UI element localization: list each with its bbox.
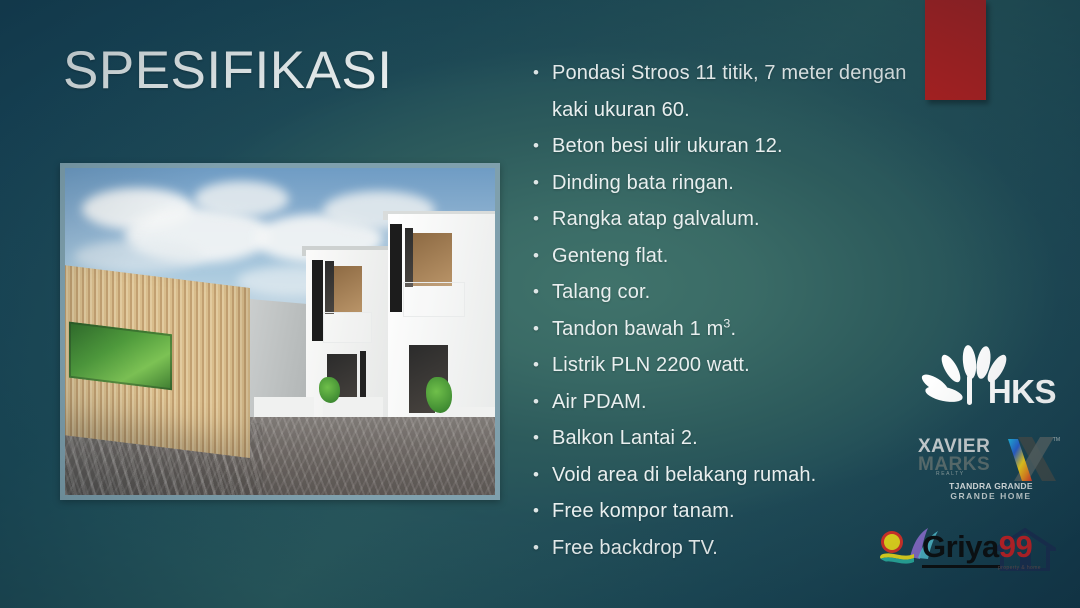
list-item: • Talang cor. [520,274,940,311]
list-item: • Pondasi Stroos 11 titik, 7 meter denga… [520,55,940,128]
page-title: SPESIFIKASI [63,44,393,97]
griya99-text: Griya99 [922,531,1032,562]
balcony-rail [323,312,372,343]
bullet-point-icon: • [520,384,552,421]
list-item-label: Genteng flat. [552,238,940,275]
bullet-point-icon: • [520,530,552,567]
hks-logo: HKS [915,345,1060,417]
bullet-point-icon: • [520,457,552,494]
hks-logo-text: HKS [988,373,1056,411]
bullet-point-icon: • [520,128,552,165]
xavier-subtitle: REALTY [936,471,965,477]
list-item: • Rangka atap galvalum. [520,201,940,238]
list-item: • Air PDAM. [520,384,940,421]
list-item: • Free backdrop TV. [520,530,940,567]
bullet-point-icon: • [520,420,552,457]
list-item-label: Balkon Lantai 2. [552,420,940,457]
cloud-icon [194,181,289,217]
office-name-line1: TJANDRA GRANDE [922,481,1060,491]
office-name-line2: GRANDE HOME [922,491,1060,501]
upper-window-frame [405,228,414,287]
bullet-point-icon: • [520,165,552,202]
house-render-image [65,168,495,495]
list-item-label: Pondasi Stroos 11 titik, 7 meter dengan … [552,55,940,128]
griya99-logo: Griya99 property & home [878,525,1058,580]
list-item-label: Beton besi ulir ukuran 12. [552,128,940,165]
upper-window [413,233,452,285]
list-item-label: Listrik PLN 2200 watt. [552,347,940,384]
xavier-marks-logo: XAVIER MARKS REALTY TM TJANDRA GRANDE GR… [918,437,1060,507]
list-item: • Tandon bawah 1 m3. [520,311,940,348]
list-item: • Void area di belakang rumah. [520,457,940,494]
xavier-x-icon [1004,435,1058,483]
specification-list: • Pondasi Stroos 11 titik, 7 meter denga… [520,55,940,566]
griya-underline [922,565,1000,568]
list-item-label: Rangka atap galvalum. [552,201,940,238]
upper-window-frame [325,261,334,313]
list-item: • Listrik PLN 2200 watt. [520,347,940,384]
bullet-point-icon: • [520,311,552,348]
plant-icon [426,377,452,413]
bullet-point-icon: • [520,347,552,384]
list-item: • Free kompor tanam. [520,493,940,530]
list-item-label: Void area di belakang rumah. [552,457,940,494]
bullet-point-icon: • [520,238,552,275]
griya99-number: 99 [999,529,1032,564]
list-item: • Genteng flat. [520,238,940,275]
list-item-label: Talang cor. [552,274,940,311]
bullet-point-icon: • [520,55,552,92]
sun-icon [884,534,900,550]
bullet-point-icon: • [520,201,552,238]
list-item-label: Tandon bawah 1 m3. [552,311,940,348]
house-render-frame [60,163,500,500]
facade-dark-panel [390,224,402,312]
bullet-point-icon: • [520,493,552,530]
presentation-slide: SPESIFIKASI [0,0,1080,608]
list-item: • Beton besi ulir ukuran 12. [520,128,940,165]
facade-dark-panel [312,260,323,342]
bullet-point-icon: • [520,274,552,311]
list-item-label: Air PDAM. [552,384,940,421]
balcony-rail [403,282,465,317]
griya-tagline: property & home [998,565,1041,571]
trademark-symbol: TM [1053,437,1060,443]
list-item: • Dinding bata ringan. [520,165,940,202]
upper-window [332,266,362,312]
list-item-label: Dinding bata ringan. [552,165,940,202]
list-item: • Balkon Lantai 2. [520,420,940,457]
